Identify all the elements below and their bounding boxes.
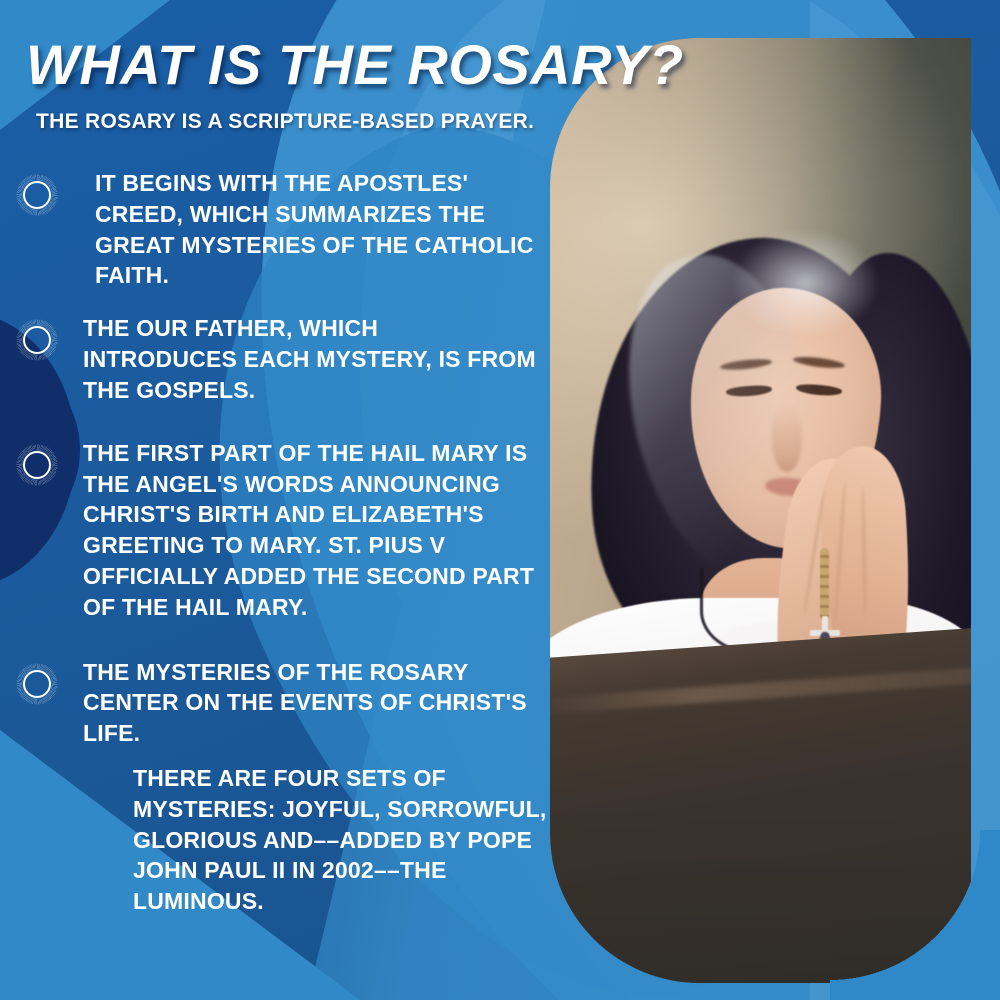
list-item-text: THE FIRST PART OF THE HAIL MARY IS THE A… [83, 438, 548, 623]
list-item: THE MYSTERIES OF THE ROSARY CENTER ON TH… [0, 657, 560, 918]
list-item: THE OUR FATHER, WHICH INTRODUCES EACH MY… [0, 313, 560, 405]
list-item-body: THE MYSTERIES OF THE ROSARY CENTER ON TH… [83, 657, 548, 918]
ring-outline [23, 670, 51, 698]
ring-outline [23, 181, 51, 209]
hair-highlight-top [730, 228, 880, 338]
ring-bullet-icon [16, 444, 58, 486]
ring-bullet-icon [16, 174, 58, 216]
ring-bullet-icon [16, 319, 58, 361]
list-item: IT BEGINS WITH THE APOSTLES' CREED, WHIC… [0, 168, 560, 291]
list-item-text: IT BEGINS WITH THE APOSTLES' CREED, WHIC… [95, 168, 547, 291]
ring-outline [23, 451, 51, 479]
rosary-beads [820, 548, 829, 620]
list-item-text: THE OUR FATHER, WHICH INTRODUCES EACH MY… [83, 313, 538, 405]
list-item-text: THE MYSTERIES OF THE ROSARY CENTER ON TH… [83, 657, 548, 749]
bullet-list: IT BEGINS WITH THE APOSTLES' CREED, WHIC… [0, 168, 560, 917]
page-subtitle: THE ROSARY IS A SCRIPTURE-BASED PRAYER. [36, 110, 534, 134]
photo-corner-mask [830, 830, 1000, 1000]
rosary-infographic-poster: WHAT IS THE ROSARY? THE ROSARY IS A SCRI… [0, 0, 1000, 1000]
ring-bullet-icon [16, 663, 58, 705]
list-item: THE FIRST PART OF THE HAIL MARY IS THE A… [0, 438, 560, 623]
page-title: WHAT IS THE ROSARY? [26, 36, 684, 95]
list-item-subtext: THERE ARE FOUR SETS OF MYSTERIES: JOYFUL… [133, 763, 548, 917]
